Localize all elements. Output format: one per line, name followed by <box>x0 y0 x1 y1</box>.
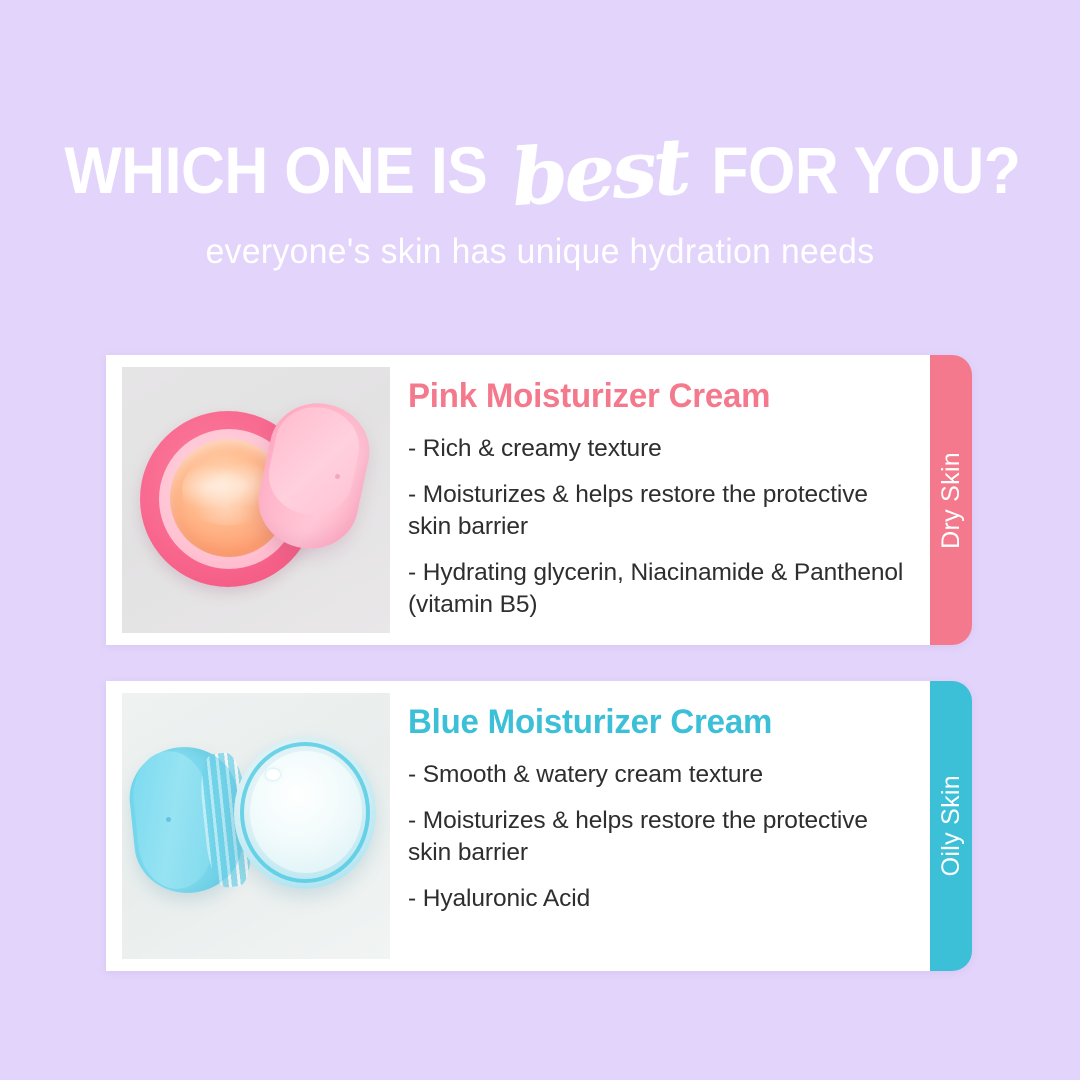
card-content-pink: Pink Moisturizer Cream - Rich & creamy t… <box>390 367 930 622</box>
feature-list-blue: - Smooth & watery cream texture - Moistu… <box>408 759 908 915</box>
pink-jar-photo <box>122 367 390 633</box>
list-item: - Hydrating glycerin, Niacinamide & Pant… <box>408 557 908 622</box>
header: WHICH ONE IS best FOR YOU? everyone's sk… <box>0 0 1080 272</box>
headline-pre-text: WHICH ONE IS <box>65 137 488 203</box>
list-item: - Moisturizes & helps restore the protec… <box>408 805 908 870</box>
skin-type-tab-label-oily: Oily Skin <box>937 775 966 876</box>
list-item: - Moisturizes & helps restore the protec… <box>408 479 908 544</box>
headline-post-text: FOR YOU? <box>711 137 1020 203</box>
pink-jar-lid-dot <box>335 474 340 479</box>
blue-cream-bubble <box>266 769 280 780</box>
blue-cream-surface <box>250 751 362 873</box>
product-card-blue[interactable]: Blue Moisturizer Cream - Smooth & watery… <box>106 681 972 971</box>
page-subtitle: everyone's skin has unique hydration nee… <box>22 232 1059 272</box>
blue-jar-lid-dot <box>166 817 171 822</box>
list-item: - Smooth & watery cream texture <box>408 759 908 792</box>
skin-type-tab-oily[interactable]: Oily Skin <box>930 681 972 971</box>
page-title: WHICH ONE IS best FOR YOU? <box>0 128 1080 206</box>
list-item: - Hyaluronic Acid <box>408 883 908 916</box>
card-content-blue: Blue Moisturizer Cream - Smooth & watery… <box>390 693 930 915</box>
skin-type-tab-label-dry: Dry Skin <box>937 452 966 549</box>
blue-jar-photo <box>122 693 390 959</box>
card-body-pink: Pink Moisturizer Cream - Rich & creamy t… <box>106 355 930 645</box>
product-title-pink: Pink Moisturizer Cream <box>408 377 893 416</box>
feature-list-pink: - Rich & creamy texture - Moisturizes & … <box>408 433 908 622</box>
product-title-blue: Blue Moisturizer Cream <box>408 703 893 742</box>
list-item: - Rich & creamy texture <box>408 433 908 466</box>
headline-script-word: best <box>499 127 700 218</box>
card-body-blue: Blue Moisturizer Cream - Smooth & watery… <box>106 681 930 971</box>
skin-type-tab-dry[interactable]: Dry Skin <box>930 355 972 645</box>
product-card-pink[interactable]: Pink Moisturizer Cream - Rich & creamy t… <box>106 355 972 645</box>
